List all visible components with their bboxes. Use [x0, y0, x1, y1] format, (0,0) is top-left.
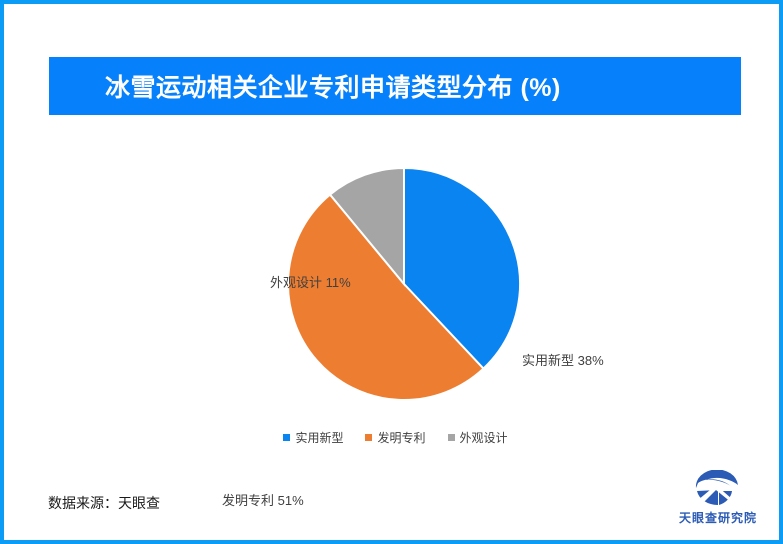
chart-legend: 实用新型 发明专利 外观设计 [4, 429, 783, 446]
legend-item-utility-model[interactable]: 实用新型 [283, 429, 343, 446]
legend-item-invention-patent[interactable]: 发明专利 [365, 429, 425, 446]
infographic-canvas: 冰雪运动相关企业专利申请类型分布 (%) 实用新型 38% 发明专利 51% 外… [0, 0, 783, 544]
pie-label-design-patent: 外观设计 11% [270, 272, 351, 291]
legend-label-design-patent: 外观设计 [460, 429, 508, 446]
page-title: 冰雪运动相关企业专利申请类型分布 (%) [105, 68, 561, 104]
tianyancha-eye-icon [692, 470, 744, 506]
brand-logo: 天眼查研究院 [672, 470, 764, 526]
brand-logo-text: 天眼查研究院 [672, 509, 764, 526]
legend-swatch-design-patent [448, 434, 455, 441]
pie-label-utility-model: 实用新型 38% [522, 350, 604, 369]
title-banner: 冰雪运动相关企业专利申请类型分布 (%) [49, 57, 741, 115]
legend-swatch-utility-model [283, 434, 290, 441]
legend-label-invention-patent: 发明专利 [377, 429, 425, 446]
legend-swatch-invention-patent [365, 434, 372, 441]
pie-chart: 实用新型 38% 发明专利 51% 外观设计 11% 实用新型 发明专利 外观设… [4, 124, 783, 464]
legend-item-design-patent[interactable]: 外观设计 [448, 429, 508, 446]
pie-label-invention-patent: 发明专利 51% [222, 490, 304, 509]
legend-label-utility-model: 实用新型 [295, 429, 343, 446]
data-source-note: 数据来源：天眼查 [48, 493, 160, 513]
